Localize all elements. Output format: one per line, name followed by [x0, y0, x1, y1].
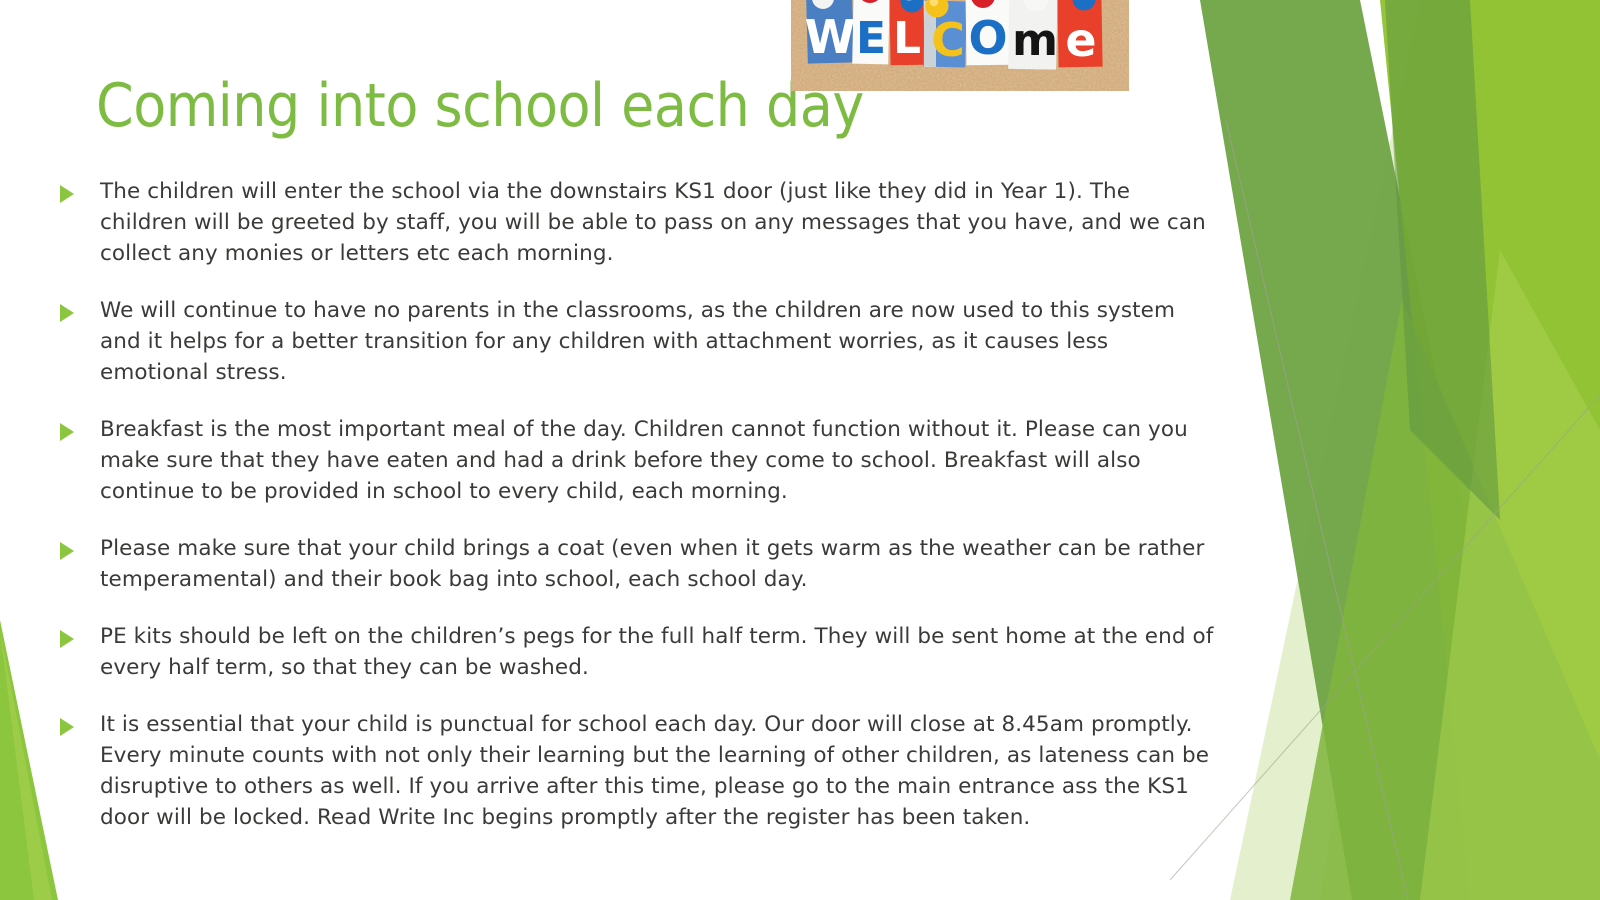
svg-text:m: m [1012, 15, 1058, 66]
svg-text:C: C [931, 13, 965, 67]
triangle-right-icon [52, 414, 100, 441]
list-item: Please make sure that your child brings … [52, 533, 1217, 595]
triangle-right-icon [52, 533, 100, 560]
list-item: It is essential that your child is punct… [52, 709, 1217, 833]
list-item: The children will enter the school via t… [52, 176, 1217, 269]
list-item: Breakfast is the most important meal of … [52, 414, 1217, 507]
list-item-text: Please make sure that your child brings … [100, 533, 1217, 595]
list-item: PE kits should be left on the children’s… [52, 621, 1217, 683]
svg-text:L: L [893, 13, 921, 64]
list-item-text: Breakfast is the most important meal of … [100, 414, 1217, 507]
welcome-image: W E L C [791, 0, 1129, 91]
list-item-text: The children will enter the school via t… [100, 176, 1217, 269]
title-row: Coming into school each day [96, 76, 1256, 186]
page-title: Coming into school each day [96, 76, 864, 136]
svg-text:E: E [856, 13, 886, 64]
list-item-text: It is essential that your child is punct… [100, 709, 1217, 833]
list-item-text: We will continue to have no parents in t… [100, 295, 1217, 388]
svg-text:W: W [805, 10, 856, 64]
svg-text:e: e [1065, 13, 1096, 67]
presentation-slide: Coming into school each day W [0, 0, 1600, 900]
triangle-right-icon [52, 621, 100, 648]
svg-text:O: O [968, 11, 1007, 65]
triangle-right-icon [52, 709, 100, 736]
list-item: We will continue to have no parents in t… [52, 295, 1217, 388]
triangle-right-icon [52, 176, 100, 203]
triangle-right-icon [52, 295, 100, 322]
bullet-list: The children will enter the school via t… [52, 176, 1217, 859]
list-item-text: PE kits should be left on the children’s… [100, 621, 1217, 683]
